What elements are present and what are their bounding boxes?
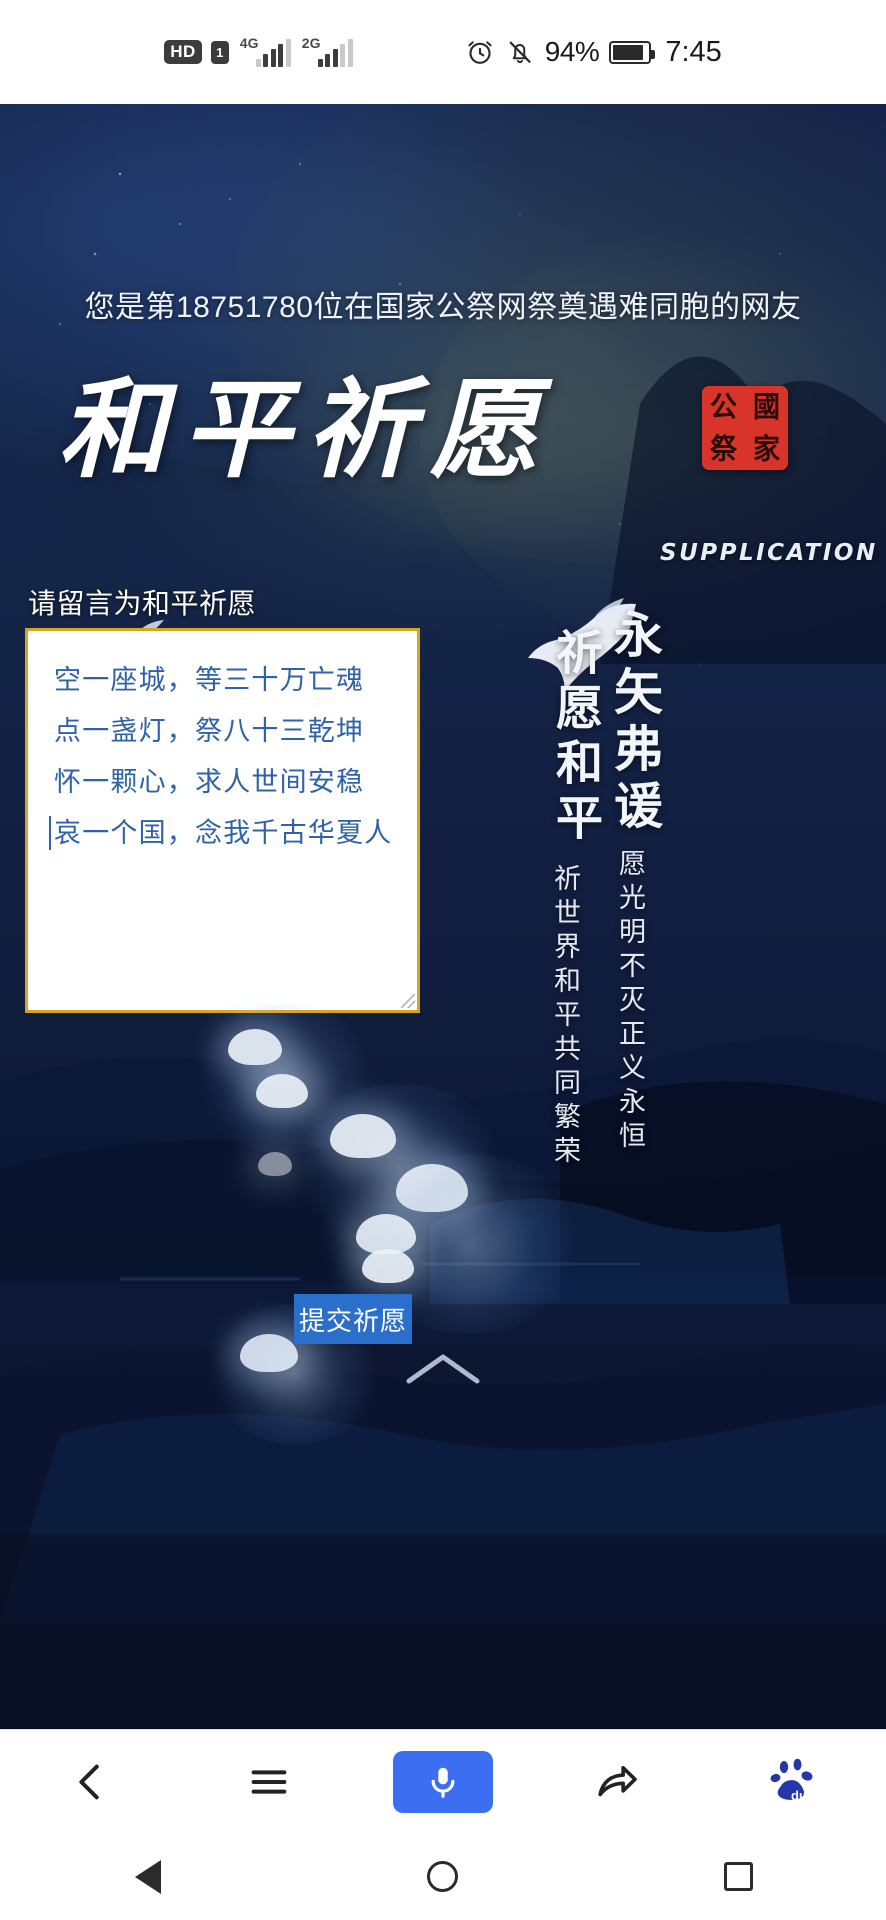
menu-button[interactable] <box>214 1730 324 1834</box>
microphone-icon <box>424 1763 462 1801</box>
signal-2g-icon: 2G <box>300 37 353 67</box>
back-button[interactable] <box>35 1730 145 1834</box>
seal-char-1: 公 <box>710 393 737 421</box>
phone-screen: HD 1 4G 2G <box>0 0 886 1920</box>
menu-lines-icon <box>246 1759 292 1805</box>
seal-char-2: 國 <box>753 393 780 421</box>
seal-char-3: 祭 <box>710 435 737 463</box>
memorial-page: 您是第18751780位在国家公祭网祭奠遇难同胞的网友 和平祈愿 公 國 祭 家… <box>0 104 886 1729</box>
status-bar-left-group: HD 1 4G 2G <box>164 37 353 67</box>
baidu-home-button[interactable]: du <box>741 1730 851 1834</box>
svg-text:du: du <box>791 1788 807 1803</box>
seal-char-4: 家 <box>753 435 780 463</box>
submit-wish-button[interactable]: 提交祈愿 <box>294 1294 412 1344</box>
share-arrow-icon <box>594 1759 640 1805</box>
lotus-lantern <box>356 1214 416 1254</box>
nav-recents-square-icon[interactable] <box>678 1833 798 1920</box>
wish-textarea[interactable]: 空一座城，等三十万亡魂 点一盏灯，祭八十三乾坤 怀一颗心，求人世间安稳 哀一个国… <box>25 628 420 1013</box>
vertical-text-small-right: 愿光明不灭正义永恒 <box>610 849 649 1155</box>
battery-percent-label: 94% <box>545 36 600 68</box>
signal-4g-icon: 4G <box>238 37 291 67</box>
share-button[interactable] <box>562 1730 672 1834</box>
nav-back-triangle-icon[interactable] <box>88 1833 208 1920</box>
lotus-lantern <box>330 1114 396 1158</box>
battery-icon <box>609 41 651 64</box>
national-memorial-seal: 公 國 祭 家 <box>702 386 788 470</box>
wish-line: 点一盏灯，祭八十三乾坤 <box>54 706 399 757</box>
wish-line: 空一座城，等三十万亡魂 <box>54 655 399 706</box>
visitor-counter: 您是第18751780位在国家公祭网祭奠遇难同胞的网友 <box>0 282 886 326</box>
wish-line: 怀一颗心，求人世间安稳 <box>54 757 399 808</box>
signal-bars-2 <box>318 39 353 67</box>
status-bar: HD 1 4G 2G <box>0 0 886 104</box>
hd-icon: HD <box>164 40 202 64</box>
lotus-lantern <box>256 1074 308 1108</box>
voice-search-button[interactable] <box>393 1751 493 1813</box>
wish-prompt-label: 请留言为和平祈愿 <box>28 582 256 622</box>
back-arrow-icon <box>67 1759 113 1805</box>
wish-line: 哀一个国，念我千古华夏人 <box>54 808 399 859</box>
signal-bars-1 <box>256 39 291 67</box>
vertical-text-big-right: 永矢弗谖 <box>600 609 671 837</box>
network-type-4g-label: 4G <box>240 35 259 51</box>
baidu-logo-icon: du <box>768 1754 824 1810</box>
page-title-calligraphy: 和平祈愿 <box>58 366 678 496</box>
network-type-2g-label: 2G <box>302 35 321 51</box>
lotus-lantern <box>362 1249 414 1283</box>
lotus-lantern <box>258 1152 292 1176</box>
alarm-clock-icon <box>465 37 495 67</box>
bell-muted-icon <box>505 37 535 67</box>
clock-label: 7:45 <box>665 36 721 69</box>
page-title-english: SUPPLICATION <box>660 540 860 566</box>
nav-home-circle-icon[interactable] <box>383 1833 503 1920</box>
status-bar-right-group: 94% 7:45 <box>465 36 722 69</box>
sim-card-icon: 1 <box>211 41 229 64</box>
browser-toolbar: du <box>0 1729 886 1833</box>
vertical-text-big-left: 祈愿和平 <box>540 628 609 848</box>
android-navigation-bar <box>0 1833 886 1920</box>
vertical-text-small-left: 祈世界和平共同繁荣 <box>545 864 584 1170</box>
chevron-up-icon[interactable] <box>403 1349 483 1389</box>
textarea-resize-handle[interactable] <box>401 994 415 1008</box>
lotus-lantern <box>228 1029 282 1065</box>
